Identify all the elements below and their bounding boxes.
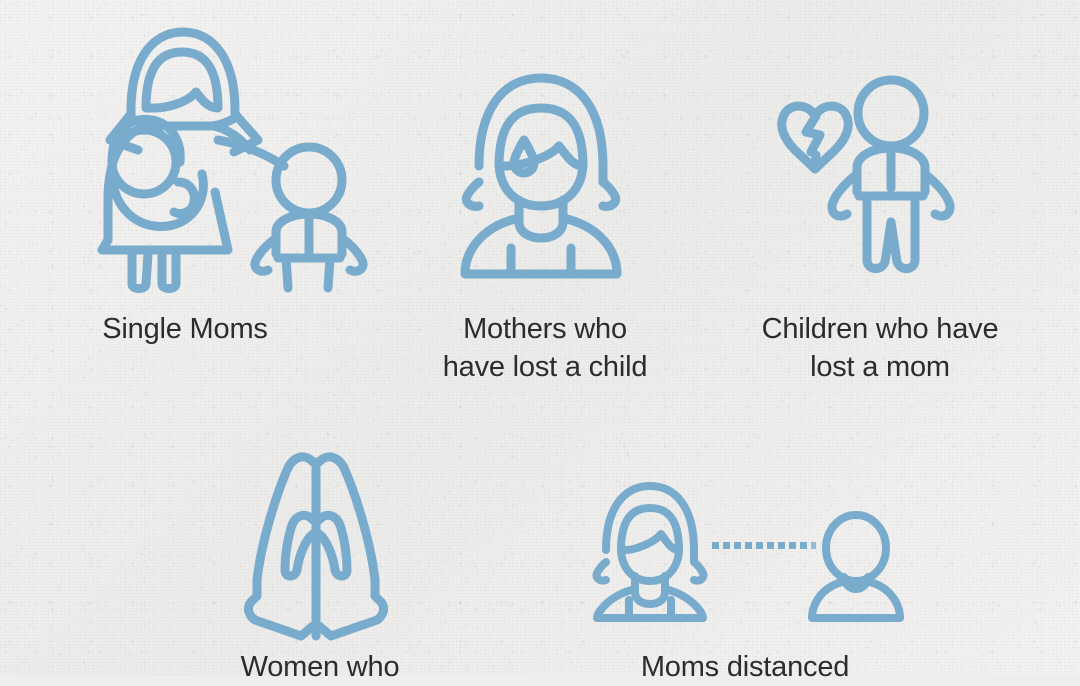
dotted-separator: [712, 542, 816, 549]
label-single-moms: Single Moms: [30, 310, 340, 348]
child-with-broken-heart-icon: [775, 72, 955, 280]
label-children-lost-mom: Children who have lost a mom: [720, 310, 1040, 386]
icon-grid: Single Moms Mother: [0, 0, 1080, 675]
label-moms-distanced: Moms distanced: [595, 648, 895, 686]
label-women-who: Women who: [175, 648, 465, 686]
crying-woman-icon: [455, 70, 627, 278]
praying-hands-icon: [247, 450, 389, 640]
woman-and-person-separated-icon: [588, 482, 900, 622]
label-mothers-lost-child: Mothers who have lost a child: [385, 310, 705, 386]
mother-with-baby-and-child-icon: [90, 22, 312, 288]
